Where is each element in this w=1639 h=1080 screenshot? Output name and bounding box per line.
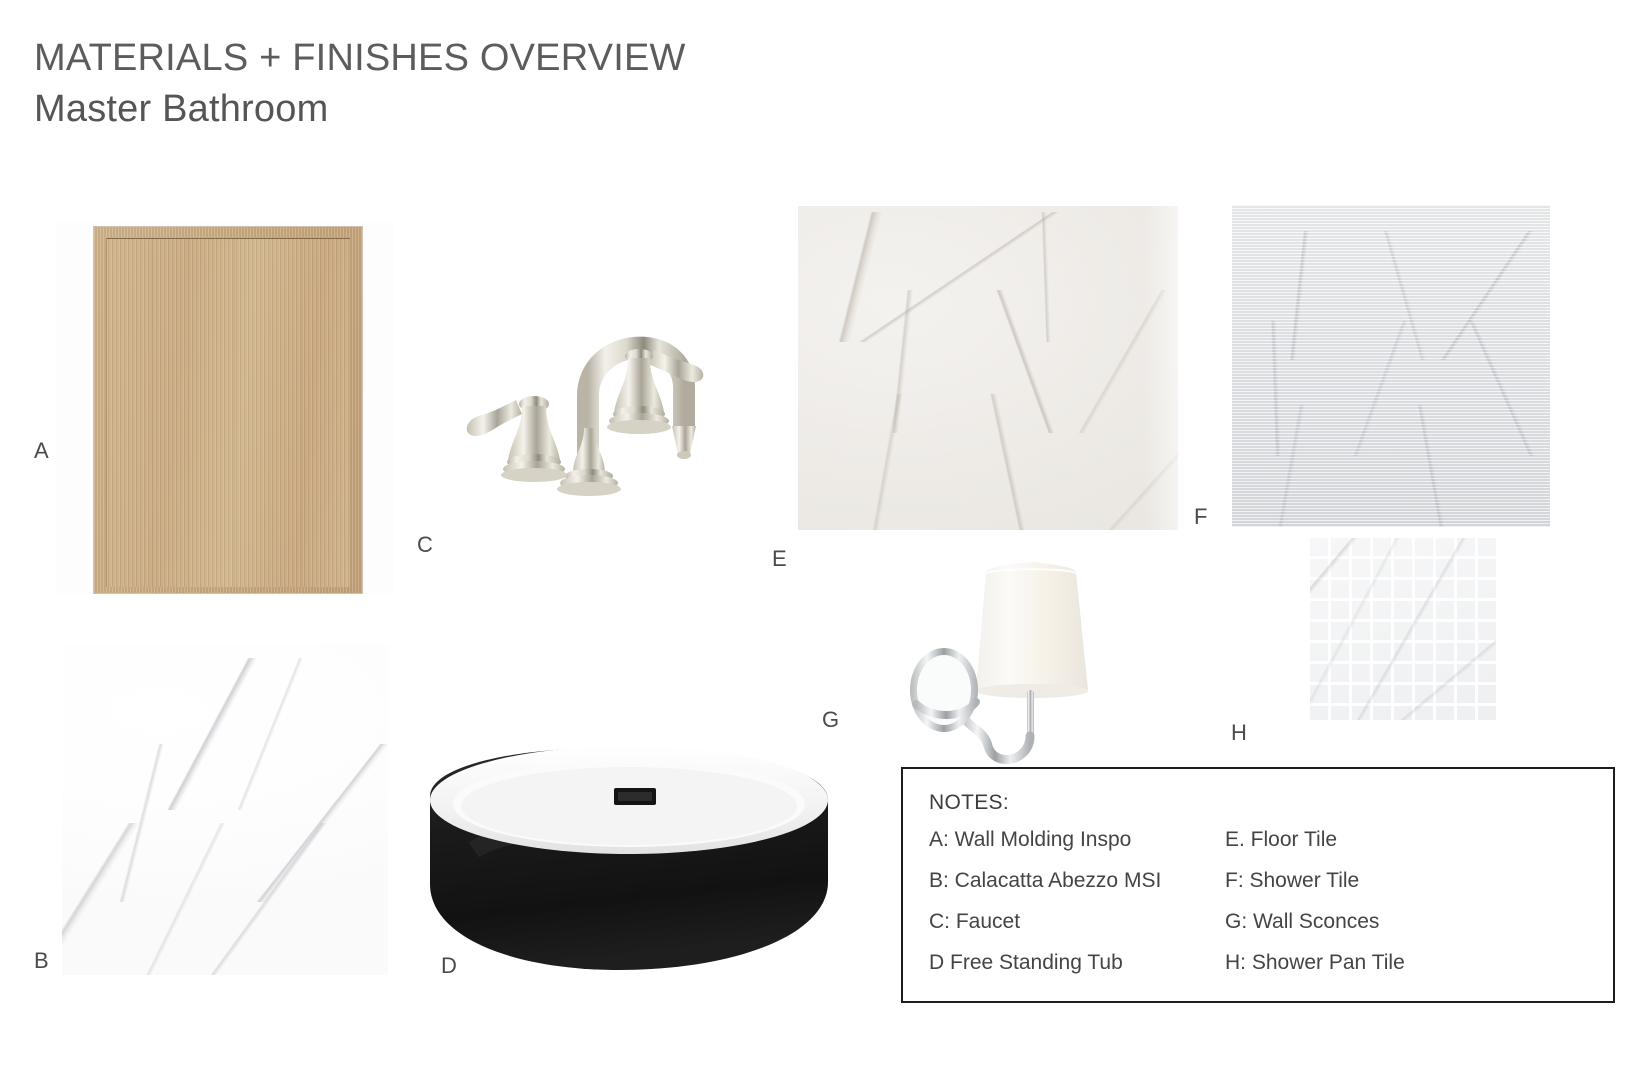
swatch-c-faucet[interactable] xyxy=(438,278,718,528)
notes-column-right: E. Floor Tile F: Shower Tile G: Wall Sco… xyxy=(1225,829,1545,993)
board-subtitle: Master Bathroom xyxy=(34,87,686,132)
note-item-e: E. Floor Tile xyxy=(1225,829,1545,850)
materials-finishes-board: MATERIALS + FINISHES OVERVIEW Master Bat… xyxy=(0,0,1639,1080)
notes-column-left: A: Wall Molding Inspo B: Calacatta Abezz… xyxy=(929,829,1229,993)
swatch-g-wall-sconces[interactable] xyxy=(890,540,1110,772)
note-item-d: D Free Standing Tub xyxy=(929,952,1229,973)
notes-heading: NOTES: xyxy=(929,791,1009,815)
note-item-f: F: Shower Tile xyxy=(1225,870,1545,891)
swatch-f-shower-tile[interactable] xyxy=(1232,205,1550,527)
label-c: C xyxy=(417,534,433,556)
label-e: E xyxy=(772,548,787,570)
label-h: H xyxy=(1231,722,1247,744)
wall-sconce-icon xyxy=(890,540,1110,772)
swatch-a-wall-molding-inspo[interactable] xyxy=(56,222,394,594)
fluted-texture xyxy=(1232,205,1550,527)
swatch-b-calacatta-abezzo-msi[interactable] xyxy=(62,645,388,975)
label-d: D xyxy=(441,955,457,977)
bathtub-icon xyxy=(414,730,844,980)
faucet-icon xyxy=(438,278,718,528)
board-title: MATERIALS + FINISHES OVERVIEW xyxy=(34,36,686,81)
wood-panel-field xyxy=(106,238,350,587)
note-item-c: C: Faucet xyxy=(929,911,1229,932)
swatch-e-floor-tile[interactable] xyxy=(798,206,1178,530)
note-item-b: B: Calacatta Abezzo MSI xyxy=(929,870,1229,891)
note-item-h: H: Shower Pan Tile xyxy=(1225,952,1545,973)
marble-vein xyxy=(798,394,1178,530)
notes-box: NOTES: A: Wall Molding Inspo B: Calacatt… xyxy=(901,767,1615,1003)
swatch-d-free-standing-tub[interactable] xyxy=(414,730,844,980)
wood-panel-frame xyxy=(94,227,362,593)
swatch-h-shower-pan-tile[interactable] xyxy=(1310,538,1496,720)
label-b: B xyxy=(34,950,49,972)
note-item-a: A: Wall Molding Inspo xyxy=(929,829,1229,850)
label-f: F xyxy=(1194,506,1207,528)
label-a: A xyxy=(34,440,49,462)
wood-grain-texture xyxy=(107,239,350,587)
page-title: MATERIALS + FINISHES OVERVIEW Master Bat… xyxy=(34,36,686,132)
mosaic-grid-texture xyxy=(1310,538,1496,720)
tile-edge-highlight xyxy=(1144,206,1178,530)
marble-vein xyxy=(62,823,388,975)
note-item-g: G: Wall Sconces xyxy=(1225,911,1545,932)
label-g: G xyxy=(822,709,839,731)
